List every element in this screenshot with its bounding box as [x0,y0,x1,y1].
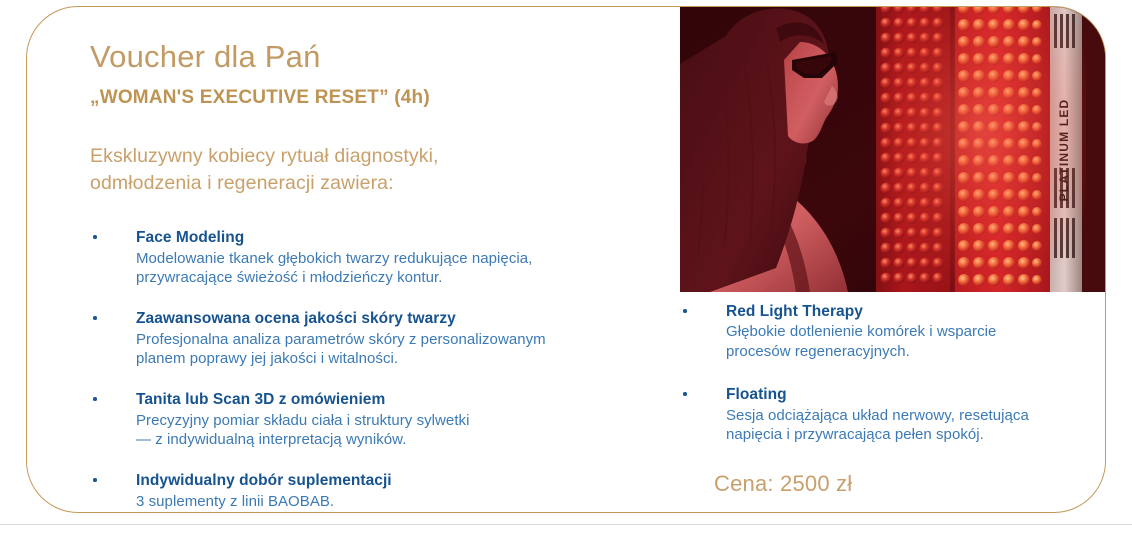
benefit-description-line: planem poprawy jej jakości i witalności. [136,349,670,369]
footer-divider [0,524,1132,525]
bullet-dot-icon [683,309,687,313]
benefit-description-line: napięcia i przywracająca pełen spokój. [726,425,1080,445]
benefit-description: Sesja odciążająca układ nerwowy, resetuj… [726,406,1080,446]
benefit-description-line: Modelowanie tkanek głębokich twarzy redu… [136,249,670,269]
benefit-description-line: — z indywidualną interpretacją wyników. [136,430,670,450]
benefit-description-line: Głębokie dotlenienie komórek i wsparcie [726,322,1080,342]
benefit-title: Zaawansowana ocena jakości skóry twarzy [136,309,670,329]
lead-line-2: odmłodzenia i regeneracji zawiera: [90,170,670,196]
voucher-lead-text: Ekskluzywny kobiecy rytuał diagnostyki, … [90,143,670,196]
list-item: Red Light Therapy Głębokie dotlenienie k… [680,302,1080,362]
voucher-subtitle: „WOMAN'S EXECUTIVE RESET” (4h) [90,87,670,110]
benefit-description-line: procesów regeneracyjnych. [726,342,1080,362]
benefit-title: Red Light Therapy [726,302,1080,322]
benefit-description-line: Precyzyjny pomiar składu ciała i struktu… [136,411,670,431]
benefit-description-line: Profesjonalna analiza parametrów skóry z… [136,330,670,350]
left-benefits-list: Face Modeling Modelowanie tkanek głęboki… [90,228,670,511]
list-item: Floating Sesja odciążająca układ nerwowy… [680,385,1080,445]
red-light-therapy-photo: PLATINUM LED [680,6,1106,292]
benefit-description-line: 3 suplementy z linii BAOBAB. [136,492,670,512]
benefit-title: Tanita lub Scan 3D z omówieniem [136,390,670,410]
voucher-slide: PLATINUM LED [0,0,1132,533]
bullet-dot-icon [93,235,97,239]
benefit-title: Indywidualny dobór suplementacji [136,471,670,491]
benefit-title: Face Modeling [136,228,670,248]
price-label: Cena: 2500 zł [714,471,1080,497]
lead-line-1: Ekskluzywny kobiecy rytuał diagnostyki, [90,143,670,169]
benefit-description: 3 suplementy z linii BAOBAB. [136,492,670,512]
benefit-description: Profesjonalna analiza parametrów skóry z… [136,330,670,370]
bullet-dot-icon [683,392,687,396]
list-item: Zaawansowana ocena jakości skóry twarzy … [90,309,670,369]
benefit-description-line: Sesja odciążająca układ nerwowy, resetuj… [726,406,1080,426]
list-item: Tanita lub Scan 3D z omówieniem Precyzyj… [90,390,670,450]
list-item: Indywidualny dobór suplementacji 3 suple… [90,471,670,511]
left-content-column: Voucher dla Pań „WOMAN'S EXECUTIVE RESET… [90,39,670,511]
right-benefits-list: Red Light Therapy Głębokie dotlenienie k… [680,302,1080,445]
list-item: Face Modeling Modelowanie tkanek głęboki… [90,228,670,288]
benefit-description: Precyzyjny pomiar składu ciała i struktu… [136,411,670,451]
bullet-dot-icon [93,397,97,401]
right-content-column: Red Light Therapy Głębokie dotlenienie k… [680,302,1080,497]
voucher-card: PLATINUM LED [26,6,1106,513]
benefit-description-line: przywracające świeżość i młodzieńczy kon… [136,268,670,288]
bullet-dot-icon [93,478,97,482]
page-title: Voucher dla Pań [90,39,670,75]
benefit-description: Głębokie dotlenienie komórek i wsparcie … [726,322,1080,362]
benefit-title: Floating [726,385,1080,405]
benefit-description: Modelowanie tkanek głębokich twarzy redu… [136,249,670,289]
bullet-dot-icon [93,316,97,320]
